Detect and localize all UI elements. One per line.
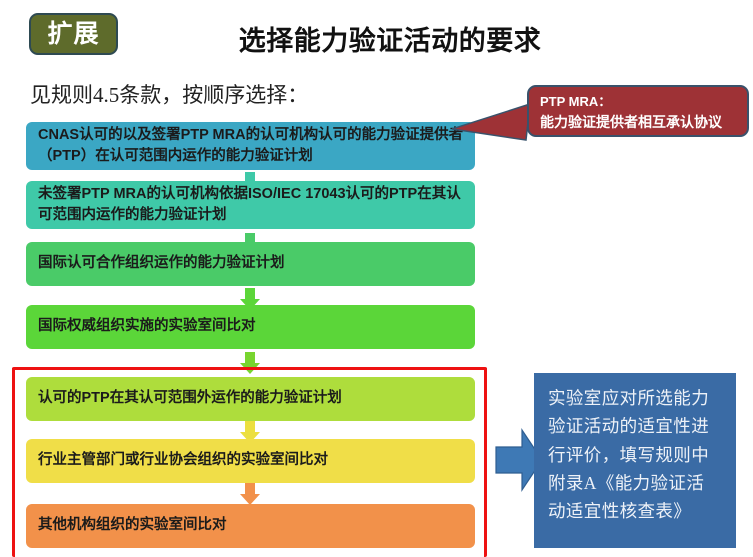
flow-step-2: 未签署PTP MRA的认可机构依据ISO/IEC 17043认可的PTP在其认可… — [26, 181, 475, 229]
flow-step-7: 其他机构组织的实验室间比对 — [26, 504, 475, 548]
slide-canvas: 扩展 选择能力验证活动的要求 见规则4.5条款，按顺序选择： CNAS认可的以及… — [0, 0, 753, 557]
flow-step-label: 认可的PTP在其认可范围外运作的能力验证计划 — [38, 388, 465, 409]
flow-step-6: 行业主管部门或行业协会组织的实验室间比对 — [26, 439, 475, 483]
conclusion-panel: 实验室应对所选能力验证活动的适宜性进行评价，填写规则中附录A《能力验证活动适宜性… — [534, 373, 736, 548]
flow-connector-arrow-6 — [239, 483, 261, 505]
subtitle-text: 见规则4.5条款，按顺序选择： — [30, 79, 308, 109]
page-title: 选择能力验证活动的要求 — [160, 19, 620, 58]
flow-step-1: CNAS认可的以及签署PTP MRA的认可机构认可的能力验证提供者（PTP）在认… — [26, 122, 475, 170]
flow-step-label: 国际认可合作组织运作的能力验证计划 — [38, 253, 465, 274]
flow-step-label: CNAS认可的以及签署PTP MRA的认可机构认可的能力验证提供者（PTP）在认… — [38, 125, 465, 167]
flow-step-label: 未签署PTP MRA的认可机构依据ISO/IEC 17043认可的PTP在其认可… — [38, 184, 465, 226]
ptp-mra-callout: PTP MRA： 能力验证提供者相互承认协议 — [527, 85, 749, 137]
section-badge-label: 扩展 — [47, 22, 99, 47]
flow-step-label: 其他机构组织的实验室间比对 — [38, 515, 465, 536]
flow-step-label: 国际权威组织实施的实验室间比对 — [38, 316, 465, 337]
section-badge: 扩展 — [29, 13, 118, 55]
callout-title: PTP MRA： — [540, 92, 739, 112]
flow-step-5: 认可的PTP在其认可范围外运作的能力验证计划 — [26, 377, 475, 421]
flow-step-4: 国际权威组织实施的实验室间比对 — [26, 305, 475, 349]
callout-text: 能力验证提供者相互承认协议 — [540, 112, 739, 134]
flow-step-label: 行业主管部门或行业协会组织的实验室间比对 — [38, 450, 465, 471]
flow-step-3: 国际认可合作组织运作的能力验证计划 — [26, 242, 475, 286]
flow-connector-arrow-4 — [239, 352, 261, 374]
